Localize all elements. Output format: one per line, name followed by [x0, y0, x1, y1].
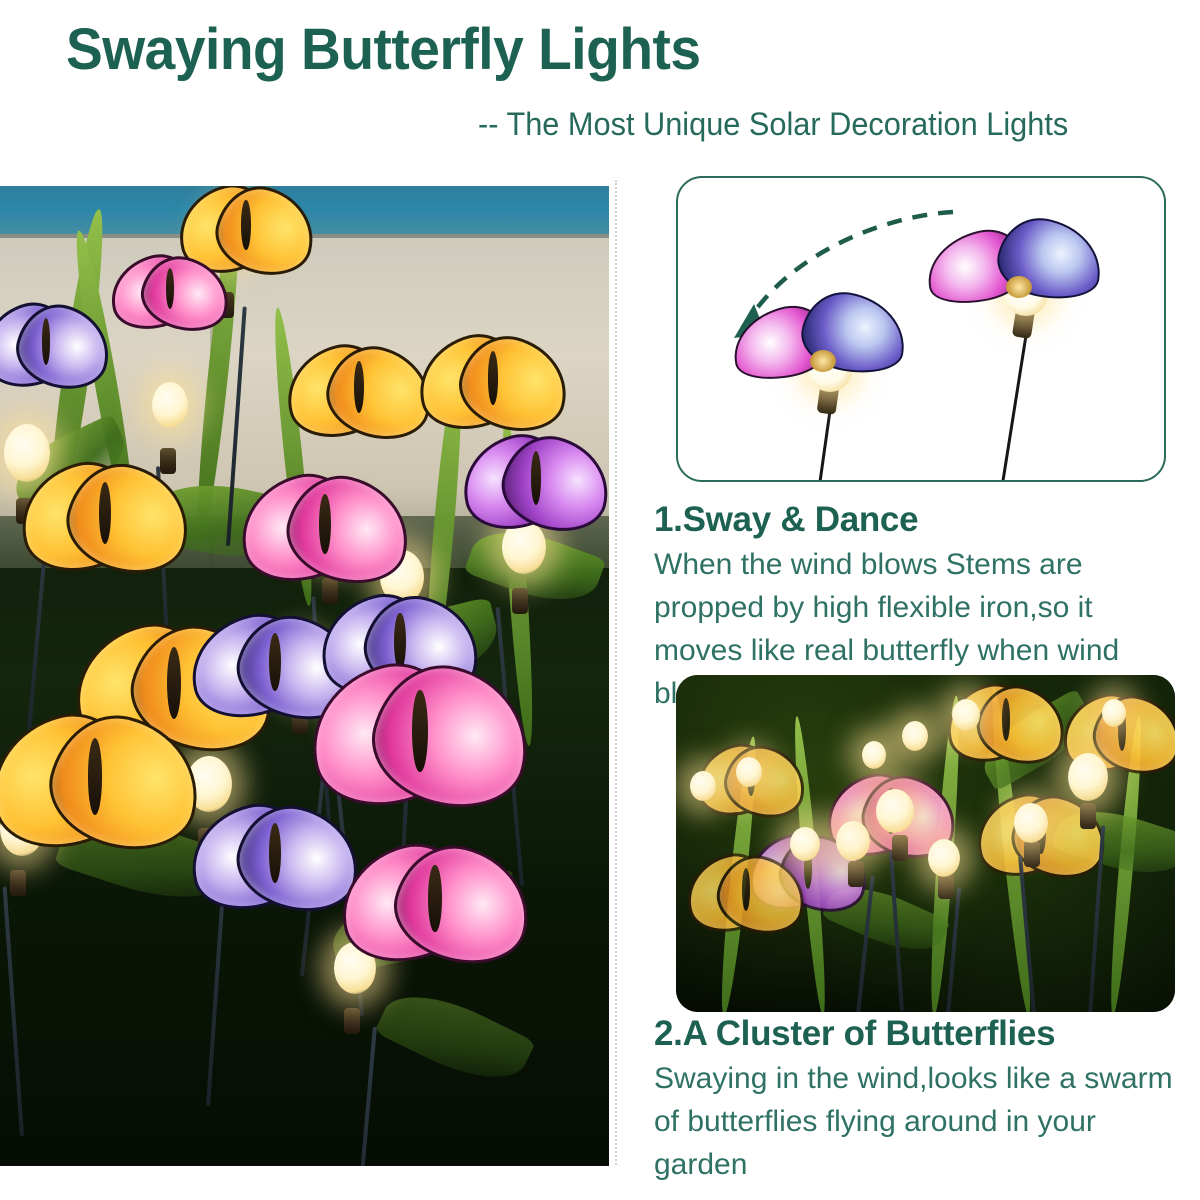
page-title: Swaying Butterfly Lights	[66, 16, 701, 83]
light-bulb	[790, 827, 820, 861]
butterfly-decoration	[110, 256, 230, 322]
butterfly-decoration	[462, 436, 609, 522]
light-bulb	[1068, 753, 1108, 801]
light-bulb	[152, 382, 188, 428]
sway-demo-panel	[676, 176, 1166, 482]
butterfly-decoration	[310, 666, 530, 798]
light-bulb	[928, 839, 960, 877]
butterfly-decoration	[286, 346, 432, 430]
feature-2-heading: 2.A Cluster of Butterflies	[654, 1014, 1055, 1054]
light-bulb	[836, 821, 870, 861]
light-bulb	[952, 699, 980, 731]
light-bulb	[736, 757, 762, 787]
main-product-photo	[0, 186, 609, 1166]
butterfly-decoration	[732, 294, 900, 376]
light-cap	[10, 870, 26, 896]
butterfly-decoration	[178, 186, 314, 266]
column-divider	[615, 180, 617, 1165]
infographic-page: Swaying Butterfly Lights -- The Most Uni…	[0, 0, 1200, 1200]
butterfly-decoration	[0, 304, 110, 380]
page-subtitle: -- The Most Unique Solar Decoration Ligh…	[478, 106, 1068, 143]
light-cap	[938, 873, 954, 899]
light-cap	[892, 835, 908, 861]
butterfly-decoration	[240, 476, 410, 574]
light-cap	[512, 588, 528, 614]
light-bulb	[1014, 803, 1048, 843]
light-bulb	[902, 721, 928, 751]
butterfly-decoration	[20, 464, 190, 564]
light-cap	[1080, 803, 1096, 829]
feature-1-heading: 1.Sway & Dance	[654, 500, 918, 540]
light-bulb	[690, 771, 716, 801]
cluster-product-photo	[676, 675, 1175, 1012]
light-cap	[344, 1008, 360, 1034]
butterfly-decoration	[0, 716, 200, 840]
butterfly-decoration	[418, 336, 568, 422]
light-bulb	[876, 789, 914, 833]
feature-2-body: Swaying in the wind,looks like a swarm o…	[654, 1057, 1174, 1186]
butterfly-decoration	[686, 855, 806, 925]
light-bulb	[1102, 699, 1126, 727]
butterfly-decoration	[340, 846, 530, 954]
light-bulb	[862, 741, 886, 769]
light-cap	[1024, 841, 1040, 867]
light-cap	[848, 861, 864, 887]
butterfly-decoration	[190, 806, 360, 902]
butterfly-decoration	[926, 220, 1096, 302]
